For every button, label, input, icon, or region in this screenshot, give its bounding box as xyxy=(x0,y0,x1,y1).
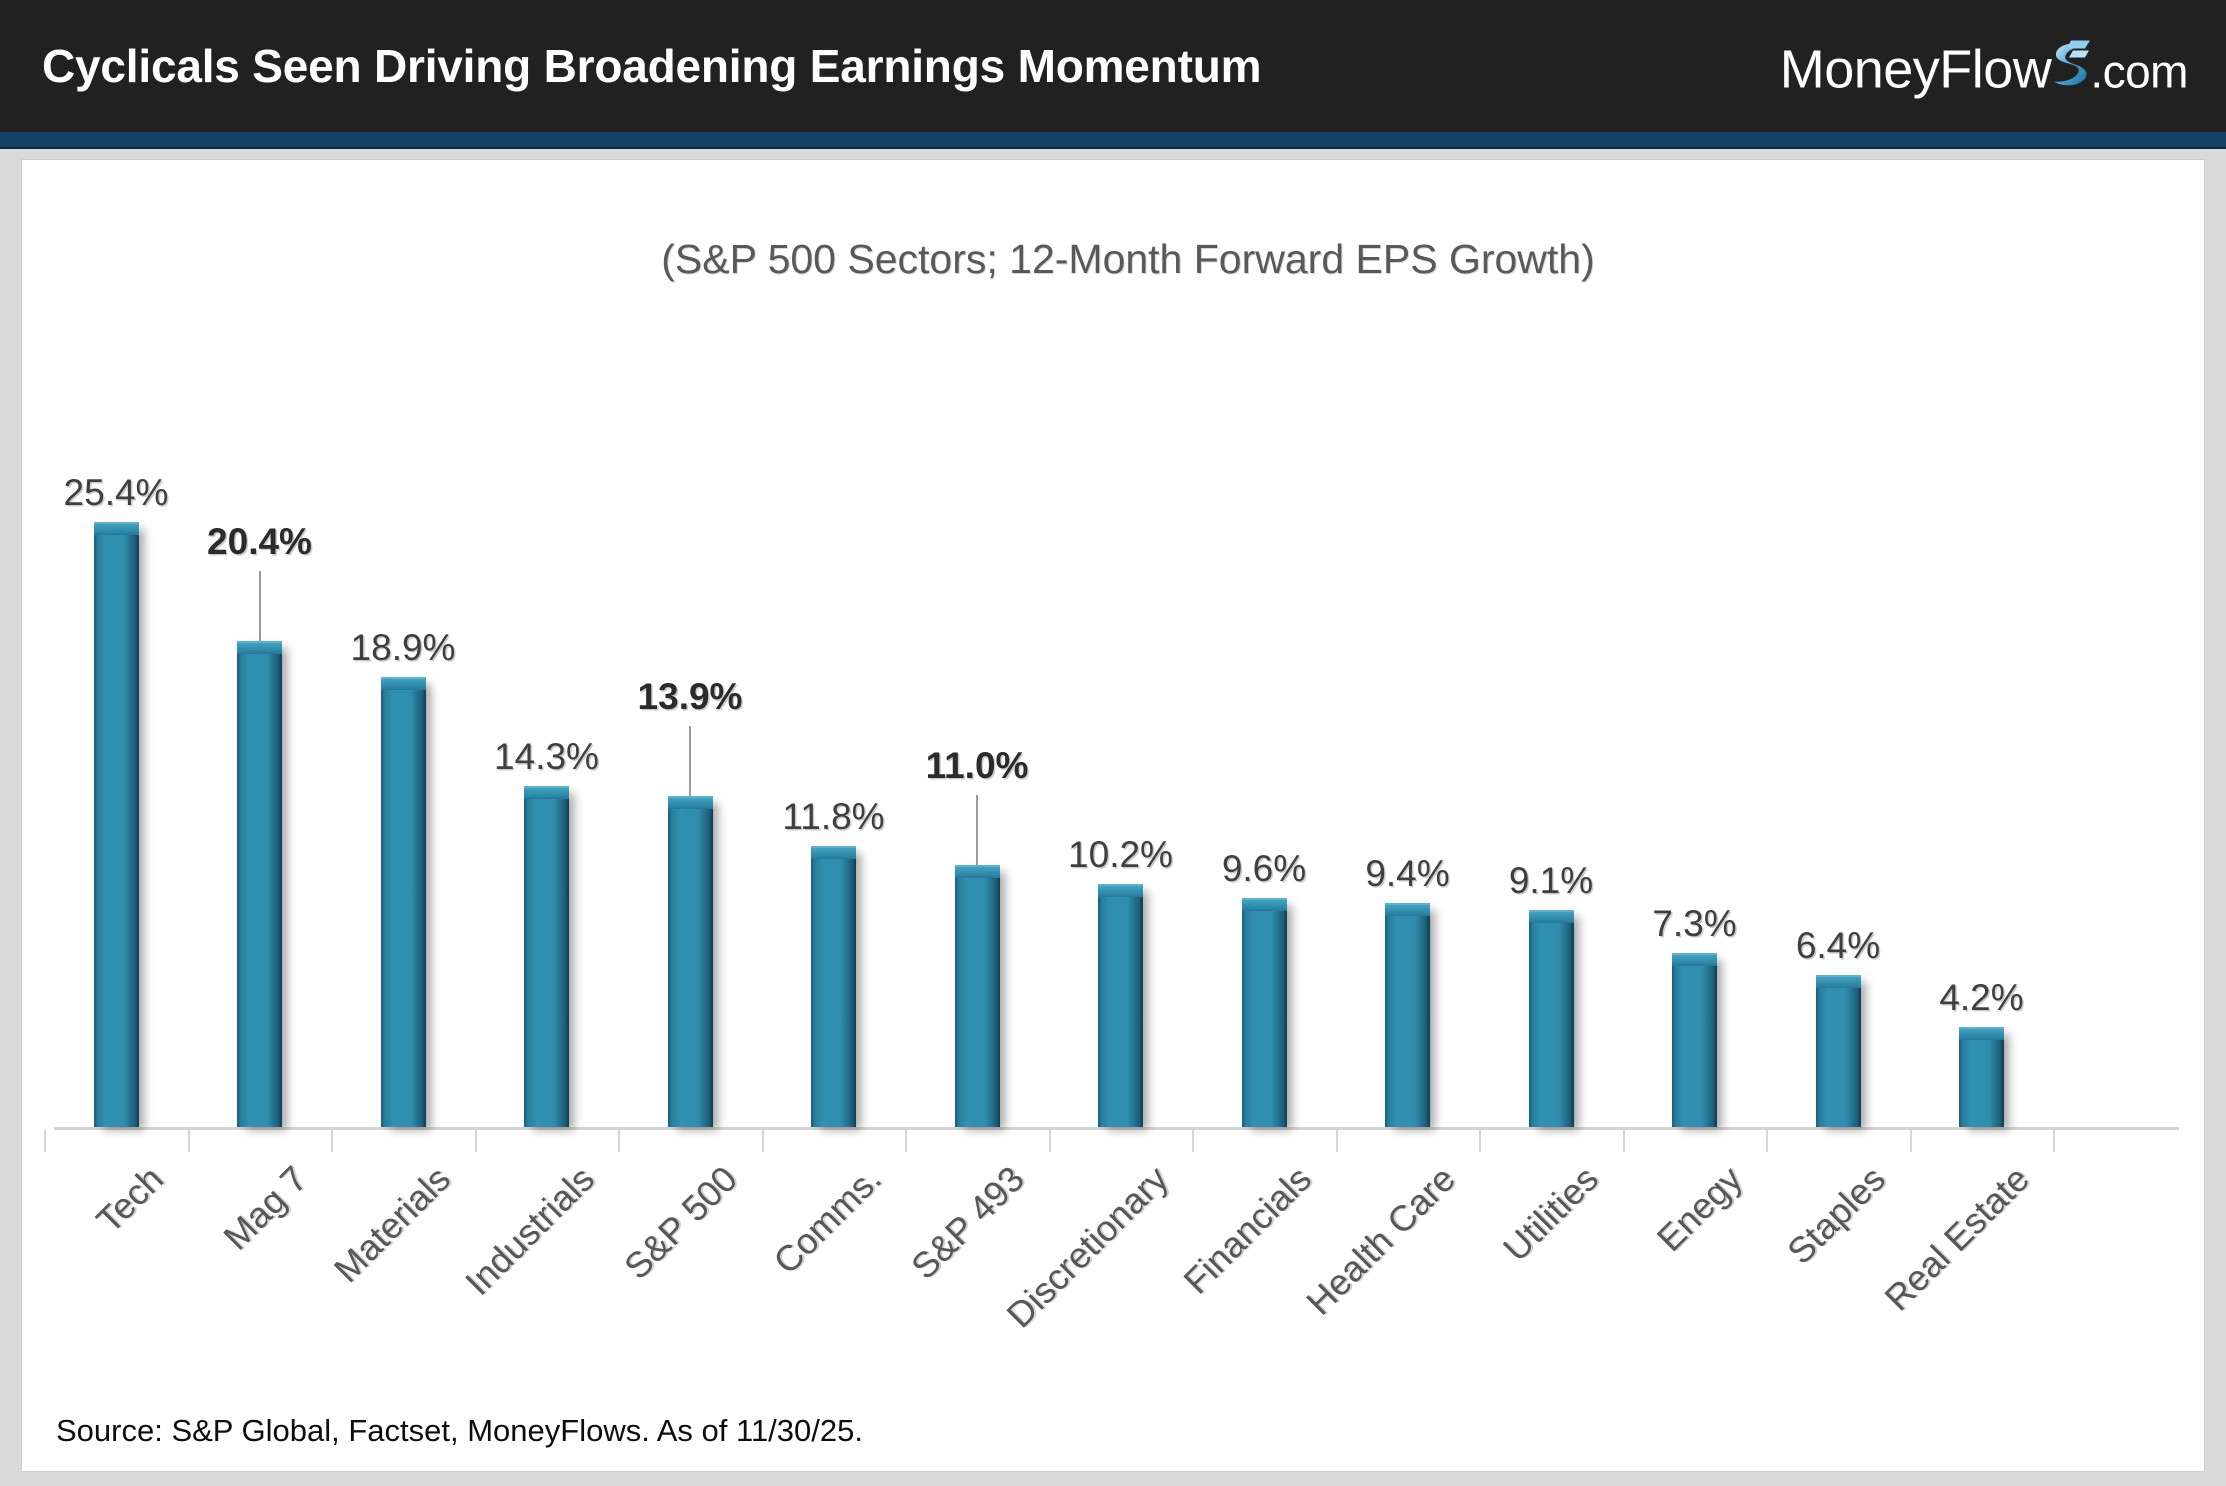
bar-value-label: 9.1% xyxy=(1509,860,1593,902)
category-label: S&P 500 xyxy=(616,1158,746,1288)
bar[interactable] xyxy=(94,522,139,1127)
category-label: Enegy xyxy=(1648,1158,1750,1260)
bar[interactable] xyxy=(1959,1027,2004,1127)
category-label: Mag 7 xyxy=(215,1158,315,1258)
category-label-anchor: S&P 493 xyxy=(1003,1158,1004,1159)
category-label: Utilities xyxy=(1495,1158,1607,1270)
category-label-anchor: Industrials xyxy=(573,1158,574,1159)
category-label-anchor: Financials xyxy=(1290,1158,1291,1159)
bar-value-label: 6.4% xyxy=(1796,925,1880,967)
bar[interactable] xyxy=(1672,953,1717,1127)
category-label-anchor: Real Estate xyxy=(2008,1158,2009,1159)
category-label: Industrials xyxy=(456,1158,602,1304)
plot-area: 25.4%20.4%18.9%14.3%13.9%11.8%11.0%10.2%… xyxy=(36,340,2196,1130)
axis-tick xyxy=(1766,1130,1768,1152)
category-label-anchor: Health Care xyxy=(1434,1158,1435,1159)
category-label-anchor: S&P 500 xyxy=(716,1158,717,1159)
category-label: Real Estate xyxy=(1876,1158,2037,1319)
bar-value-label: 11.8% xyxy=(782,796,884,838)
brand-logo-tld: .com xyxy=(2090,45,2188,99)
bar[interactable] xyxy=(1816,975,1861,1127)
label-leader-line xyxy=(259,571,261,641)
brand-swoosh-icon xyxy=(2051,38,2091,94)
axis-tick xyxy=(2053,1130,2055,1152)
axis-tick xyxy=(1192,1130,1194,1152)
category-label-anchor: Comms. xyxy=(860,1158,861,1159)
bar[interactable] xyxy=(955,865,1000,1127)
page-title: Cyclicals Seen Driving Broadening Earnin… xyxy=(42,39,1261,93)
axis-tick xyxy=(905,1130,907,1152)
chart-panel: (S&P 500 Sectors; 12-Month Forward EPS G… xyxy=(22,160,2204,1471)
axis-tick xyxy=(331,1130,333,1152)
category-label: Staples xyxy=(1779,1158,1894,1273)
bar[interactable] xyxy=(811,846,856,1127)
bar-value-label: 10.2% xyxy=(1068,834,1173,876)
axis-tick xyxy=(475,1130,477,1152)
bar[interactable] xyxy=(1098,884,1143,1127)
axis-tick xyxy=(188,1130,190,1152)
bar-value-label: 18.9% xyxy=(351,627,456,669)
axis-tick xyxy=(1910,1130,1912,1152)
axis-tick xyxy=(1623,1130,1625,1152)
bar-value-label: 7.3% xyxy=(1652,903,1736,945)
axis-tick xyxy=(762,1130,764,1152)
category-label-anchor: Discretionary xyxy=(1147,1158,1148,1159)
x-axis-line xyxy=(54,1127,2179,1130)
source-note: Source: S&P Global, Factset, MoneyFlows.… xyxy=(56,1413,863,1449)
header-bar: Cyclicals Seen Driving Broadening Earnin… xyxy=(0,0,2226,132)
page-canvas: (S&P 500 Sectors; 12-Month Forward EPS G… xyxy=(0,149,2226,1486)
category-label-anchor: Enegy xyxy=(1721,1158,1722,1159)
bar-value-label: 14.3% xyxy=(494,736,599,778)
bar[interactable] xyxy=(381,677,426,1127)
brand-logo: MoneyFlow .com xyxy=(1780,32,2188,101)
label-leader-line xyxy=(976,795,978,865)
brand-logo-text: MoneyFlow xyxy=(1780,39,2052,101)
axis-tick xyxy=(618,1130,620,1152)
category-label-anchor: Utilities xyxy=(1577,1158,1578,1159)
bar-value-label: 13.9% xyxy=(638,676,743,718)
bar-value-label: 20.4% xyxy=(207,521,312,563)
bar-value-label: 11.0% xyxy=(926,745,1029,787)
chart-title: (S&P 500 Sectors; 12-Month Forward EPS G… xyxy=(22,236,2204,283)
bar-value-label: 25.4% xyxy=(64,472,169,514)
bar[interactable] xyxy=(668,796,713,1127)
axis-tick xyxy=(44,1130,46,1152)
bar-value-label: 9.4% xyxy=(1365,853,1449,895)
category-label-anchor: Materials xyxy=(429,1158,430,1159)
category-label: Materials xyxy=(326,1158,459,1291)
axis-tick xyxy=(1336,1130,1338,1152)
bar[interactable] xyxy=(237,641,282,1127)
category-label: Financials xyxy=(1175,1158,1319,1302)
axis-tick xyxy=(1479,1130,1481,1152)
header-accent-stripe xyxy=(0,132,2226,149)
bar[interactable] xyxy=(1529,910,1574,1127)
bar-value-label: 4.2% xyxy=(1939,977,2023,1019)
category-label-anchor: Staples xyxy=(1864,1158,1865,1159)
category-label-anchor: Tech xyxy=(142,1158,143,1159)
label-leader-line xyxy=(689,726,691,796)
category-label: Comms. xyxy=(765,1158,889,1282)
bar[interactable] xyxy=(1385,903,1430,1127)
category-label: Tech xyxy=(88,1158,171,1241)
category-label: Health Care xyxy=(1298,1158,1464,1324)
axis-tick xyxy=(1049,1130,1051,1152)
category-label: S&P 493 xyxy=(903,1158,1033,1288)
category-label-anchor: Mag 7 xyxy=(286,1158,287,1159)
bar[interactable] xyxy=(524,786,569,1127)
bar-value-label: 9.6% xyxy=(1222,848,1306,890)
bar[interactable] xyxy=(1242,898,1287,1127)
